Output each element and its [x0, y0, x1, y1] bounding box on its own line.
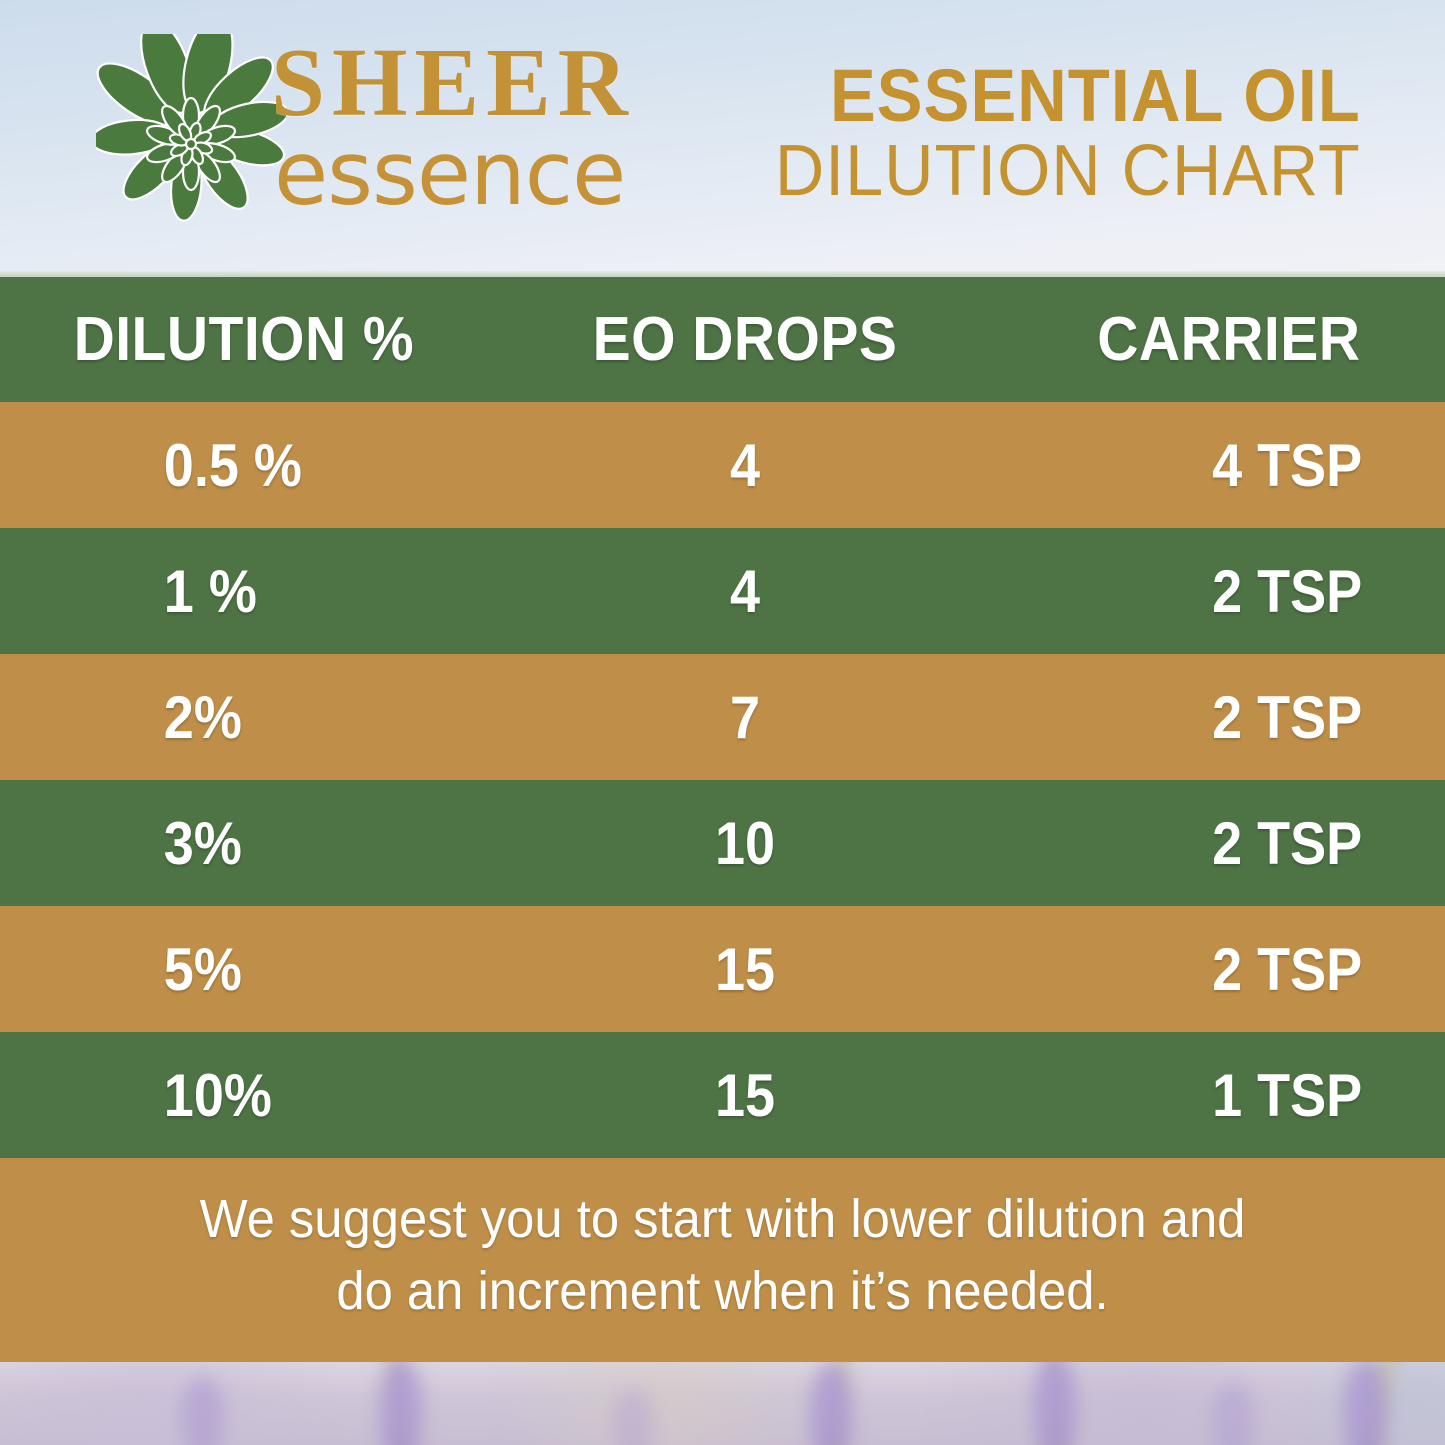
cell-dilution: 5%: [0, 935, 468, 1004]
sunflower-leaf-spiral-icon: [96, 34, 286, 229]
lavender-blur-layer: [0, 1362, 1445, 1445]
column-header-carrier: CARRIER: [1008, 304, 1445, 375]
cell-dilution: 0.5 %: [0, 431, 468, 500]
cell-carrier: 2 TSP: [1018, 935, 1445, 1004]
cell-eo-drops: 4: [543, 557, 948, 626]
cell-carrier: 4 TSP: [1018, 431, 1445, 500]
cell-eo-drops: 15: [543, 935, 948, 1004]
brand-logo: SHEER essence: [96, 26, 696, 241]
page-title-line1: ESSENTIAL OIL: [787, 60, 1361, 131]
cell-eo-drops: 7: [543, 683, 948, 752]
page-title: ESSENTIAL OIL DILUTION CHART: [744, 60, 1361, 207]
column-header-dilution: DILUTION %: [0, 304, 478, 375]
cell-eo-drops: 4: [543, 431, 948, 500]
table-row: 10% 15 1 TSP: [0, 1032, 1445, 1158]
note-line-2: do an increment when it’s needed.: [184, 1256, 1260, 1328]
cell-dilution: 1 %: [0, 557, 468, 626]
table-header-row: DILUTION % EO DROPS CARRIER: [0, 277, 1445, 402]
dilution-table: DILUTION % EO DROPS CARRIER 0.5 % 4 4 TS…: [0, 277, 1445, 1158]
page-title-line2: DILUTION CHART: [775, 135, 1361, 207]
cell-eo-drops: 10: [543, 809, 948, 878]
cell-carrier: 2 TSP: [1018, 683, 1445, 752]
column-header-eo-drops: EO DROPS: [538, 304, 952, 375]
cell-carrier: 2 TSP: [1018, 809, 1445, 878]
dilution-chart-infographic: SHEER essence ESSENTIAL OIL DILUTION CHA…: [0, 0, 1445, 1445]
note-line-1: We suggest you to start with lower dilut…: [184, 1184, 1260, 1256]
cell-dilution: 10%: [0, 1061, 468, 1130]
table-row: 1 % 4 2 TSP: [0, 528, 1445, 654]
table-row: 5% 15 2 TSP: [0, 906, 1445, 1032]
cell-carrier: 2 TSP: [1018, 557, 1445, 626]
brand-name-secondary: essence: [274, 130, 625, 218]
lavender-bloom: [378, 1362, 424, 1445]
cell-dilution: 2%: [0, 683, 468, 752]
table-row: 2% 7 2 TSP: [0, 654, 1445, 780]
lavender-field-photo: [0, 1362, 1445, 1445]
cell-carrier: 1 TSP: [1018, 1061, 1445, 1130]
header-banner: SHEER essence ESSENTIAL OIL DILUTION CHA…: [0, 0, 1445, 277]
suggestion-note: We suggest you to start with lower dilut…: [0, 1158, 1445, 1362]
table-row: 0.5 % 4 4 TSP: [0, 402, 1445, 528]
cell-dilution: 3%: [0, 809, 468, 878]
lavender-bloom: [1032, 1362, 1078, 1445]
cell-eo-drops: 15: [543, 1061, 948, 1130]
brand-name-primary: SHEER: [271, 34, 635, 131]
table-row: 3% 10 2 TSP: [0, 780, 1445, 906]
